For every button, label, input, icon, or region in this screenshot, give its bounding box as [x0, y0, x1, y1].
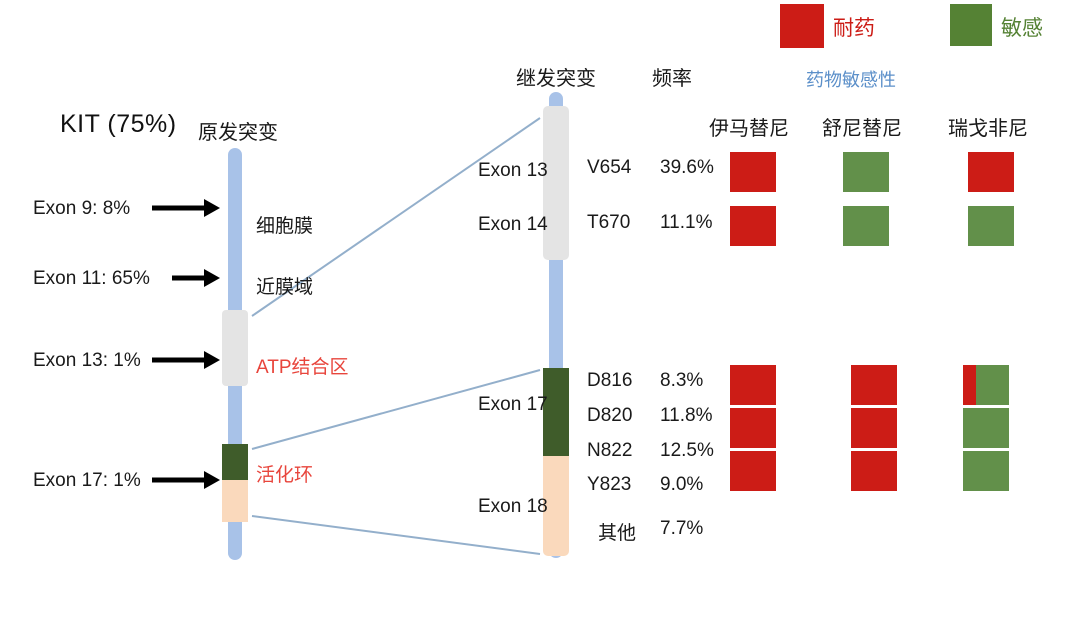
sensitivity-block-v654-regorafenib	[968, 152, 1014, 192]
mutation-frequency-other: 7.7%	[660, 518, 703, 540]
sensitivity-block-exon17-row3-regorafenib	[963, 451, 1009, 491]
mutation-name-d820: D820	[587, 405, 632, 427]
mutation-name-d816: D816	[587, 370, 632, 392]
secondary-exon-label-exon17: Exon 17	[478, 394, 548, 416]
sensitivity-block-exon17-row3-sunitinib	[851, 451, 897, 491]
primary-exon-label-exon13: Exon 13: 1%	[33, 350, 141, 372]
primary-mutation-column-title: 原发突变	[198, 116, 278, 145]
connector-lines	[0, 0, 1080, 622]
primary-domain-label-membrane: 细胞膜	[256, 211, 313, 238]
mutation-name-other: 其他	[598, 518, 636, 545]
frequency-column-title: 频率	[652, 62, 692, 91]
secondary-exon-label-exon18: Exon 18	[478, 496, 548, 518]
drug-sensitivity-group-title: 药物敏感性	[806, 66, 896, 92]
primary-bar-segment-atp-binding	[222, 310, 248, 386]
legend-swatch-resistant	[780, 4, 824, 48]
sensitivity-block-exon17-row1-imatinib	[730, 365, 776, 405]
mutation-name-v654: V654	[587, 157, 631, 179]
primary-domain-label-juxtamembrane: 近膜域	[256, 272, 313, 299]
secondary-bar-segment-atp-binding	[543, 106, 569, 260]
mutation-frequency-v654: 39.6%	[660, 157, 714, 179]
drug-column-header-imatinib: 伊马替尼	[709, 112, 789, 141]
mutation-frequency-y823: 9.0%	[660, 474, 703, 496]
sensitivity-block-t670-regorafenib	[968, 206, 1014, 246]
mutation-name-y823: Y823	[587, 474, 631, 496]
legend-label-sensitive: 敏感	[1001, 12, 1043, 42]
sensitivity-block-exon17-row2-sunitinib	[851, 408, 897, 448]
sensitivity-block-exon17-row3-imatinib	[730, 451, 776, 491]
primary-exon-label-exon9: Exon 9: 8%	[33, 198, 130, 220]
connector-line-exon18-to-exon18	[252, 516, 540, 554]
sensitivity-block-exon17-row1-regorafenib	[963, 365, 1009, 405]
primary-exon-label-exon11: Exon 11: 65%	[33, 268, 150, 290]
legend-swatch-sensitive	[950, 4, 992, 46]
drug-column-header-sunitinib: 舒尼替尼	[822, 112, 902, 141]
mutation-frequency-d816: 8.3%	[660, 370, 703, 392]
sensitivity-block-exon17-row1-sunitinib	[851, 365, 897, 405]
primary-bar-segment-activation-loop	[222, 444, 248, 480]
primary-domain-label-activation-loop: 活化环	[256, 460, 313, 487]
mutation-frequency-n822: 12.5%	[660, 440, 714, 462]
primary-bar-segment-exon18	[222, 480, 248, 522]
legend-label-resistant: 耐药	[833, 12, 875, 42]
mutation-name-t670: T670	[587, 212, 630, 234]
sensitivity-block-exon17-row2-imatinib	[730, 408, 776, 448]
sensitivity-block-t670-sunitinib	[843, 206, 889, 246]
mutation-name-n822: N822	[587, 440, 632, 462]
sensitivity-block-t670-imatinib	[730, 206, 776, 246]
sensitivity-block-v654-sunitinib	[843, 152, 889, 192]
secondary-exon-label-exon13: Exon 13	[478, 160, 548, 182]
mutation-frequency-d820: 11.8%	[660, 405, 712, 427]
primary-exon-label-exon17: Exon 17: 1%	[33, 470, 141, 492]
drug-column-header-regorafenib: 瑞戈非尼	[948, 112, 1028, 141]
secondary-mutation-column-title: 继发突变	[516, 62, 596, 91]
secondary-exon-label-exon14: Exon 14	[478, 214, 548, 236]
kit-title: KIT (75%)	[60, 110, 177, 139]
mutation-frequency-t670: 11.1%	[660, 212, 712, 234]
primary-domain-label-atp-binding: ATP结合区	[256, 352, 349, 379]
sensitivity-block-v654-imatinib	[730, 152, 776, 192]
sensitivity-block-exon17-row2-regorafenib	[963, 408, 1009, 448]
